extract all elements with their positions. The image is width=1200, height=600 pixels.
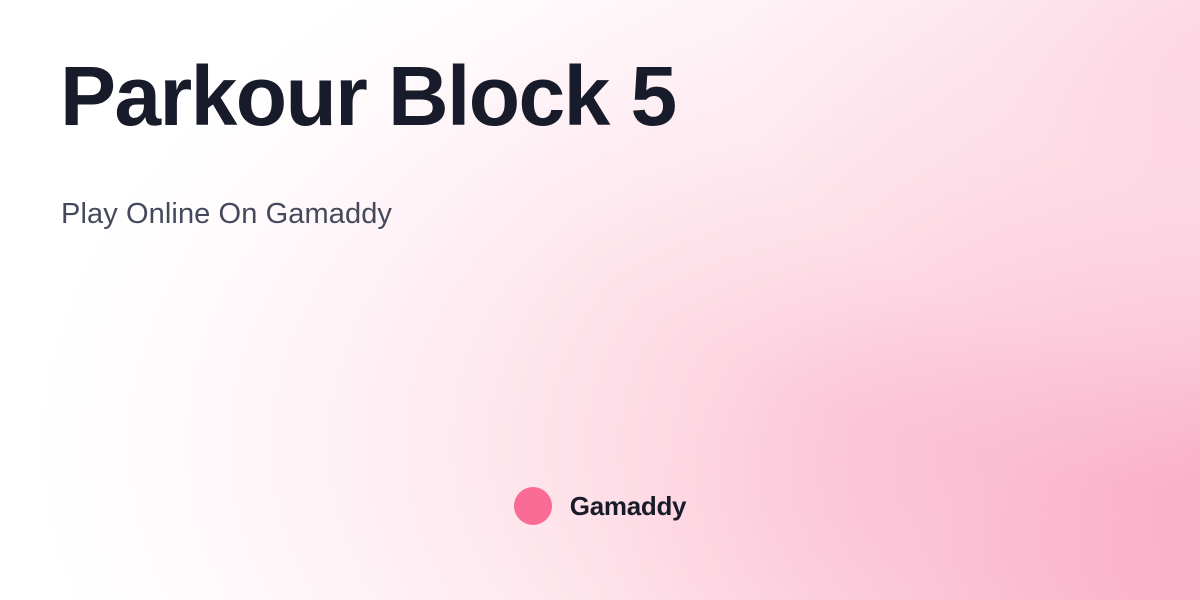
brand-name: Gamaddy: [570, 491, 686, 522]
page-subtitle: Play Online On Gamaddy: [61, 196, 392, 234]
share-card: Parkour Block 5 Play Online On Gamaddy G…: [0, 0, 1200, 600]
brand-lockup: Gamaddy: [0, 487, 1200, 525]
page-title: Parkour Block 5: [60, 49, 676, 143]
circle-icon: [514, 487, 552, 525]
